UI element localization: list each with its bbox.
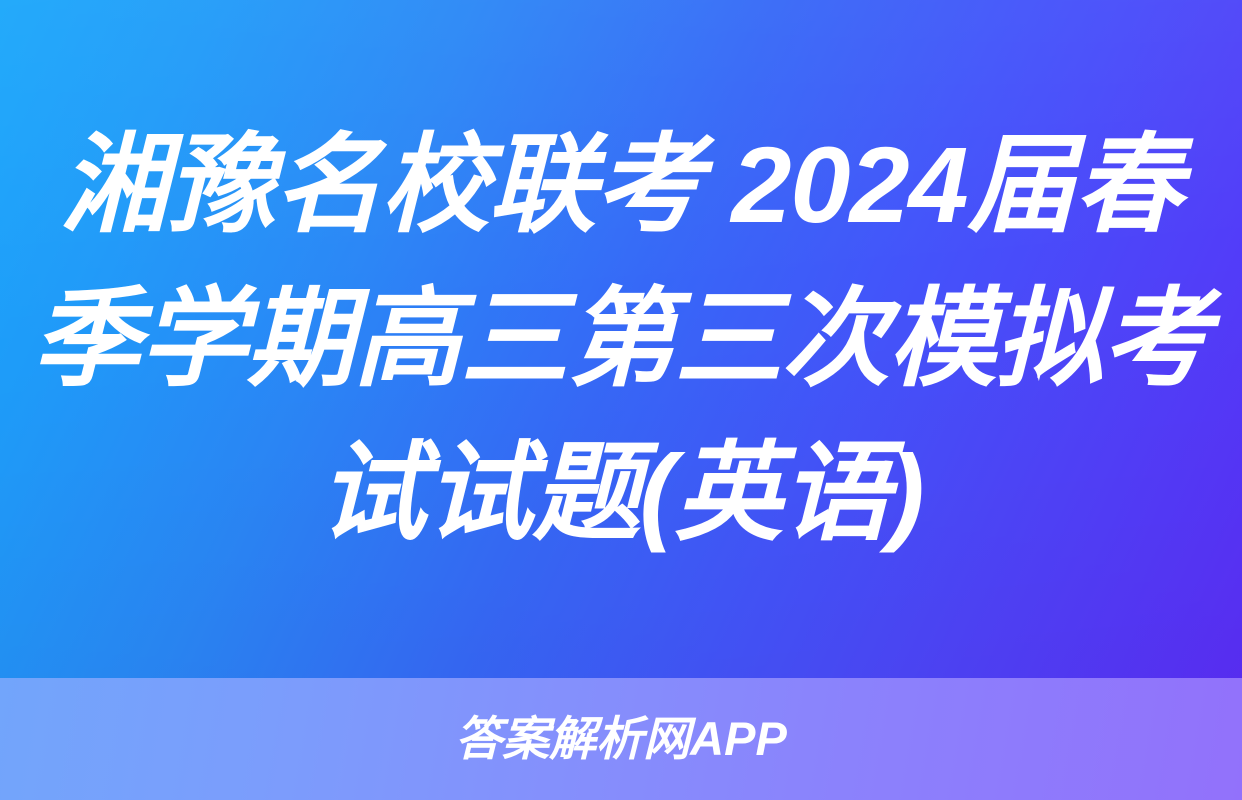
exam-title-block: 湘豫名校联考 2024届春 季学期高三第三次模拟考 试试题(英语) (0, 0, 1242, 678)
exam-cover-card: 湘豫名校联考 2024届春 季学期高三第三次模拟考 试试题(英语) 答案解析网A… (0, 0, 1242, 800)
hero-gradient-panel: 湘豫名校联考 2024届春 季学期高三第三次模拟考 试试题(英语) (0, 0, 1242, 678)
app-watermark-label: 答案解析网APP (455, 712, 787, 766)
exam-title-line-3: 试试题(英语) (319, 416, 924, 570)
app-watermark-banner: 答案解析网APP (0, 678, 1242, 800)
exam-title-line-2: 季学期高三第三次模拟考 (32, 262, 1209, 416)
exam-title-line-1: 湘豫名校联考 2024届春 (60, 108, 1181, 262)
